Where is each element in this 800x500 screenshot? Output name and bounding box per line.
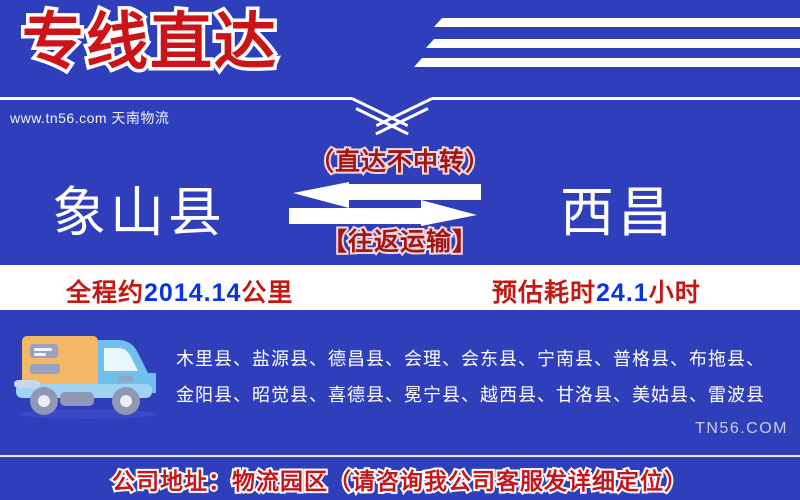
delivery-truck-icon — [8, 322, 168, 427]
distance-prefix: 全程约 — [66, 279, 144, 307]
header-divider-right — [432, 97, 800, 100]
header-divider-left — [0, 97, 352, 100]
bidirectional-arrow-icon — [289, 182, 481, 226]
header-stripe-2 — [426, 39, 800, 48]
company-website-label: www.tn56.com 天南物流 — [10, 108, 169, 128]
coverage-area-list: 木里县、盐源县、德昌县、会理、会东县、宁南县、普格县、布拖县、金阳县、昭觉县、喜… — [176, 341, 776, 413]
logistics-banner: 专线直达 www.tn56.com 天南物流 象山县 西昌 （直达不中转） 【往… — [0, 0, 800, 500]
company-address-label: 公司地址：物流园区（请咨询我公司客服发详细定位） — [0, 462, 800, 496]
banner-title: 专线直达 — [22, 4, 278, 82]
estimated-duration: 预估耗时24.1小时 — [492, 273, 701, 309]
distance-unit: 公里 — [241, 279, 293, 307]
site-watermark: TN56.COM — [695, 420, 788, 438]
total-distance: 全程约2014.14公里 — [66, 273, 293, 309]
distance-value: 2014.14 — [144, 279, 241, 307]
route-note-direct: （直达不中转） — [0, 142, 800, 178]
header-stripe-3 — [414, 58, 800, 67]
footer-divider — [0, 455, 800, 457]
route-note-roundtrip: 【往返运输】 — [0, 222, 800, 258]
header-stripe-1 — [434, 18, 800, 27]
info-band: 全程约2014.14公里 预估耗时24.1小时 — [0, 265, 800, 310]
duration-prefix: 预估耗时 — [492, 279, 596, 307]
duration-value: 24.1 — [596, 279, 649, 307]
duration-unit: 小时 — [649, 279, 701, 307]
